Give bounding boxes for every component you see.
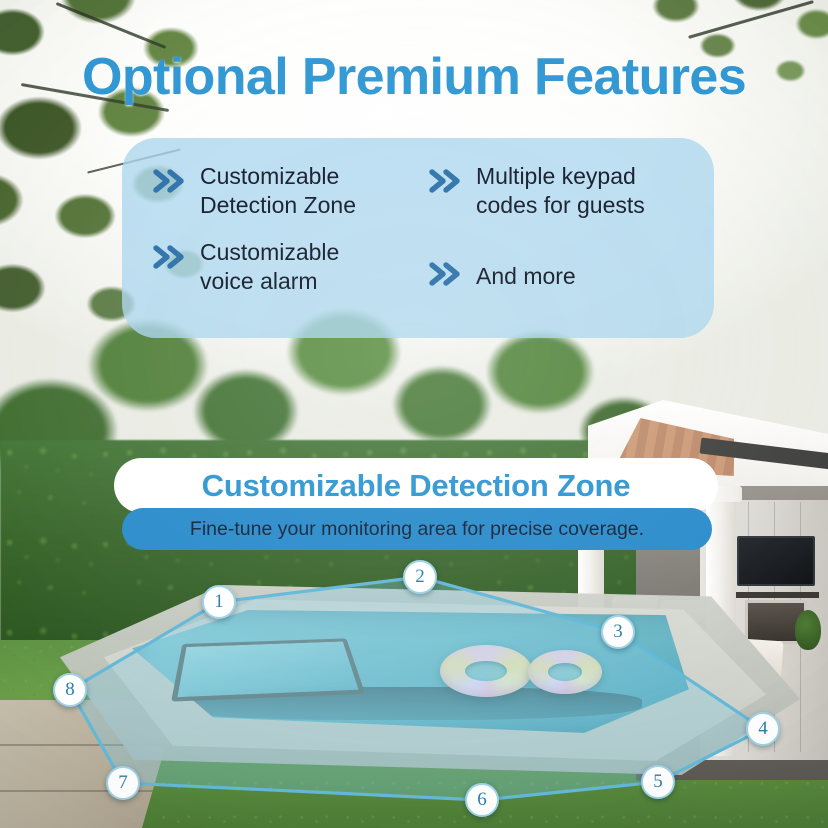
zone-handle-label: 1 [214,591,224,613]
zone-handle-1[interactable]: 1 [202,585,236,619]
zone-handle-4[interactable]: 4 [746,712,780,746]
promo-graphic: Optional Premium Features Customizable D… [0,0,828,828]
detection-zone-overlay[interactable] [0,0,828,828]
zone-handle-label: 8 [65,679,75,701]
zone-handle-label: 4 [758,718,768,740]
zone-handle-5[interactable]: 5 [641,765,675,799]
zone-handle-label: 3 [613,621,623,643]
zone-handle-label: 2 [415,566,425,588]
zone-handle-label: 6 [477,789,487,811]
zone-handle-2[interactable]: 2 [403,560,437,594]
zone-handle-6[interactable]: 6 [465,783,499,817]
zone-handle-label: 7 [118,772,128,794]
zone-handle-8[interactable]: 8 [53,673,87,707]
zone-handle-7[interactable]: 7 [106,766,140,800]
zone-handle-label: 5 [653,771,663,793]
zone-handle-3[interactable]: 3 [601,615,635,649]
